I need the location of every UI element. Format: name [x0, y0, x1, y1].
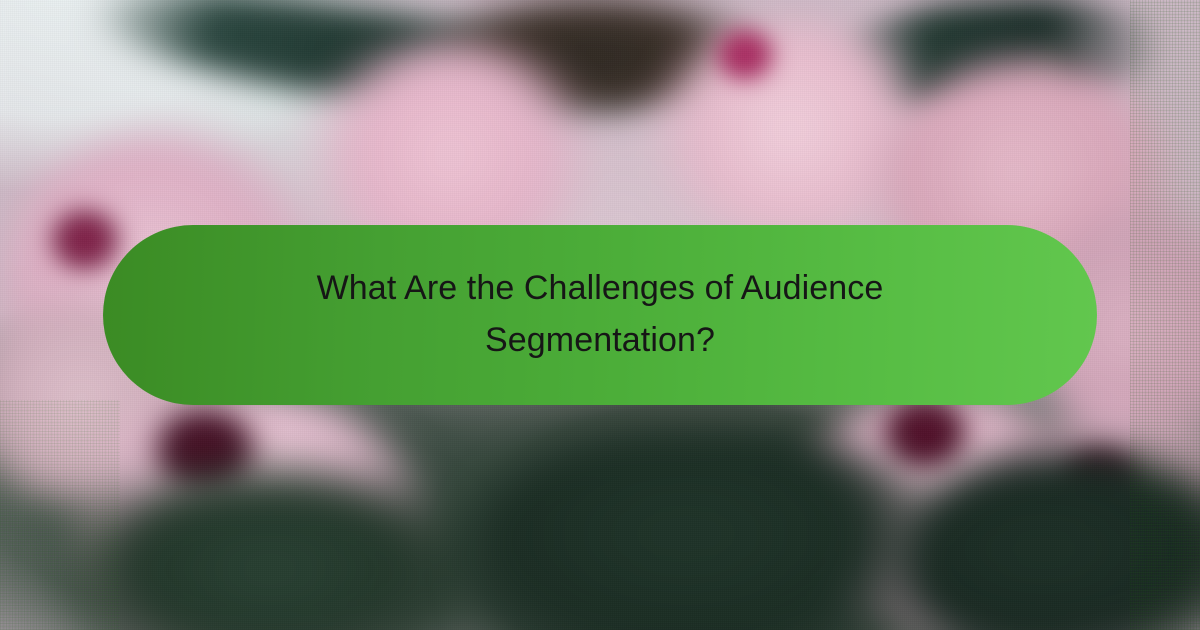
page-title: What Are the Challenges of Audience Segm… [250, 263, 950, 366]
blossom-core-left [50, 210, 120, 270]
social-share-card: What Are the Challenges of Audience Segm… [0, 0, 1200, 630]
foliage-bottom-center [470, 430, 950, 630]
blossom-core-bottom-right-a [880, 398, 970, 468]
blossom-core-top-right [715, 30, 775, 80]
title-pill-banner: What Are the Challenges of Audience Segm… [103, 225, 1097, 405]
